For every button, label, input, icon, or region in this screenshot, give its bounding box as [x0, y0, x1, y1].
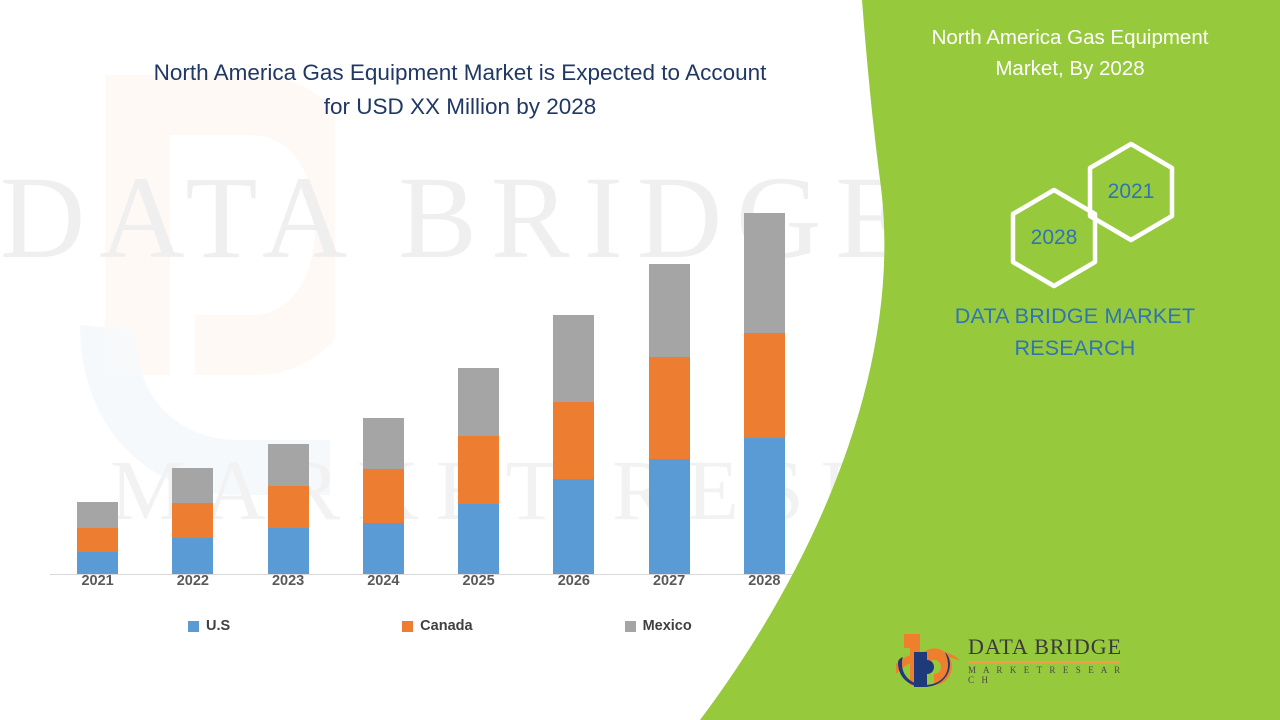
- stacked-bar: [268, 444, 309, 574]
- bar-segment-us: [172, 538, 213, 574]
- data-bridge-logo: DATA BRIDGE M A R K E T R E S E A R C H: [890, 628, 1120, 698]
- bar-segment-canada: [553, 402, 594, 479]
- bar-segment-canada: [649, 357, 690, 459]
- bar-column-2022: [145, 174, 240, 574]
- bar-segment-mexico: [553, 315, 594, 402]
- bar-column-2026: [526, 174, 621, 574]
- bar-segment-us: [363, 523, 404, 574]
- hexagon-2028: 2028: [1008, 186, 1100, 290]
- logo-main-text: DATA BRIDGE: [968, 634, 1128, 660]
- bar-segment-canada: [363, 469, 404, 523]
- logo-wordmark: DATA BRIDGE M A R K E T R E S E A R C H: [968, 634, 1128, 685]
- bar-segment-mexico: [363, 418, 404, 469]
- green-panel-heading-line2: Market, By 2028: [890, 53, 1250, 84]
- bar-segment-mexico: [649, 264, 690, 357]
- logo-sub-text: M A R K E T R E S E A R C H: [968, 665, 1128, 685]
- infographic-canvas: DATA BRIDGE MARKET RESEARCH North Americ…: [0, 0, 1280, 720]
- stacked-bar: [744, 213, 785, 574]
- bar-segment-canada: [458, 436, 499, 504]
- bar-segment-us: [649, 459, 690, 574]
- logo-mark-icon: [890, 630, 962, 694]
- x-axis-label-2024: 2024: [336, 573, 431, 603]
- hexagon-group: 2021 2028: [880, 140, 1280, 280]
- bar-column-2023: [241, 174, 336, 574]
- bar-segment-canada: [744, 333, 785, 438]
- bar-column-2025: [431, 174, 526, 574]
- x-axis-label-2025: 2025: [431, 573, 526, 603]
- legend-swatch-icon: [402, 621, 413, 632]
- stacked-bar: [553, 315, 594, 574]
- chart-title-line2: for USD XX Million by 2028: [60, 90, 860, 124]
- bar-segment-us: [77, 552, 118, 574]
- chart-title-line1: North America Gas Equipment Market is Ex…: [60, 56, 860, 90]
- x-axis-label-2028: 2028: [717, 573, 812, 603]
- bar-segment-us: [744, 438, 785, 574]
- hexagon-2021-label: 2021: [1108, 180, 1155, 204]
- bar-segment-mexico: [77, 502, 118, 528]
- x-axis-label-2022: 2022: [145, 573, 240, 603]
- logo-divider: [968, 661, 1120, 663]
- bar-segment-mexico: [744, 213, 785, 333]
- green-panel-heading-line1: North America Gas Equipment: [890, 22, 1250, 53]
- legend-label: Canada: [420, 618, 472, 634]
- chart-legend: U.SCanadaMexico: [50, 618, 810, 634]
- legend-item-canada: Canada: [402, 618, 472, 634]
- stacked-bar-chart: 20212022202320242025202620272028: [40, 150, 830, 575]
- stacked-bar: [458, 368, 499, 574]
- hexagon-2028-label: 2028: [1031, 226, 1078, 250]
- bar-column-2028: [717, 174, 812, 574]
- legend-label: Mexico: [643, 618, 692, 634]
- brand-name-line2: RESEARCH: [890, 332, 1260, 364]
- legend-swatch-icon: [625, 621, 636, 632]
- brand-name-line1: DATA BRIDGE MARKET: [890, 300, 1260, 332]
- green-panel-content: North America Gas Equipment Market, By 2…: [880, 0, 1280, 720]
- x-axis-label-2023: 2023: [241, 573, 336, 603]
- legend-item-mexico: Mexico: [625, 618, 692, 634]
- bar-segment-mexico: [172, 468, 213, 503]
- bar-segment-mexico: [268, 444, 309, 486]
- bar-group: [50, 174, 812, 574]
- bar-segment-canada: [268, 486, 309, 528]
- brand-name-text: DATA BRIDGE MARKET RESEARCH: [890, 300, 1260, 364]
- chart-title: North America Gas Equipment Market is Ex…: [60, 56, 860, 124]
- stacked-bar: [649, 264, 690, 574]
- x-axis-label-2027: 2027: [622, 573, 717, 603]
- legend-swatch-icon: [188, 621, 199, 632]
- bar-segment-us: [268, 528, 309, 574]
- bar-column-2024: [336, 174, 431, 574]
- stacked-bar: [77, 502, 118, 574]
- stacked-bar: [363, 418, 404, 574]
- stacked-bar: [172, 468, 213, 574]
- legend-label: U.S: [206, 618, 230, 634]
- bar-segment-us: [553, 479, 594, 574]
- legend-item-us: U.S: [188, 618, 230, 634]
- bar-segment-canada: [77, 528, 118, 552]
- x-axis-label-2026: 2026: [526, 573, 621, 603]
- bar-segment-us: [458, 504, 499, 574]
- bar-segment-canada: [172, 503, 213, 538]
- x-axis-labels: 20212022202320242025202620272028: [50, 573, 812, 603]
- green-panel-heading: North America Gas Equipment Market, By 2…: [890, 22, 1250, 84]
- x-axis-label-2021: 2021: [50, 573, 145, 603]
- bar-column-2027: [622, 174, 717, 574]
- bar-column-2021: [50, 174, 145, 574]
- bar-segment-mexico: [458, 368, 499, 436]
